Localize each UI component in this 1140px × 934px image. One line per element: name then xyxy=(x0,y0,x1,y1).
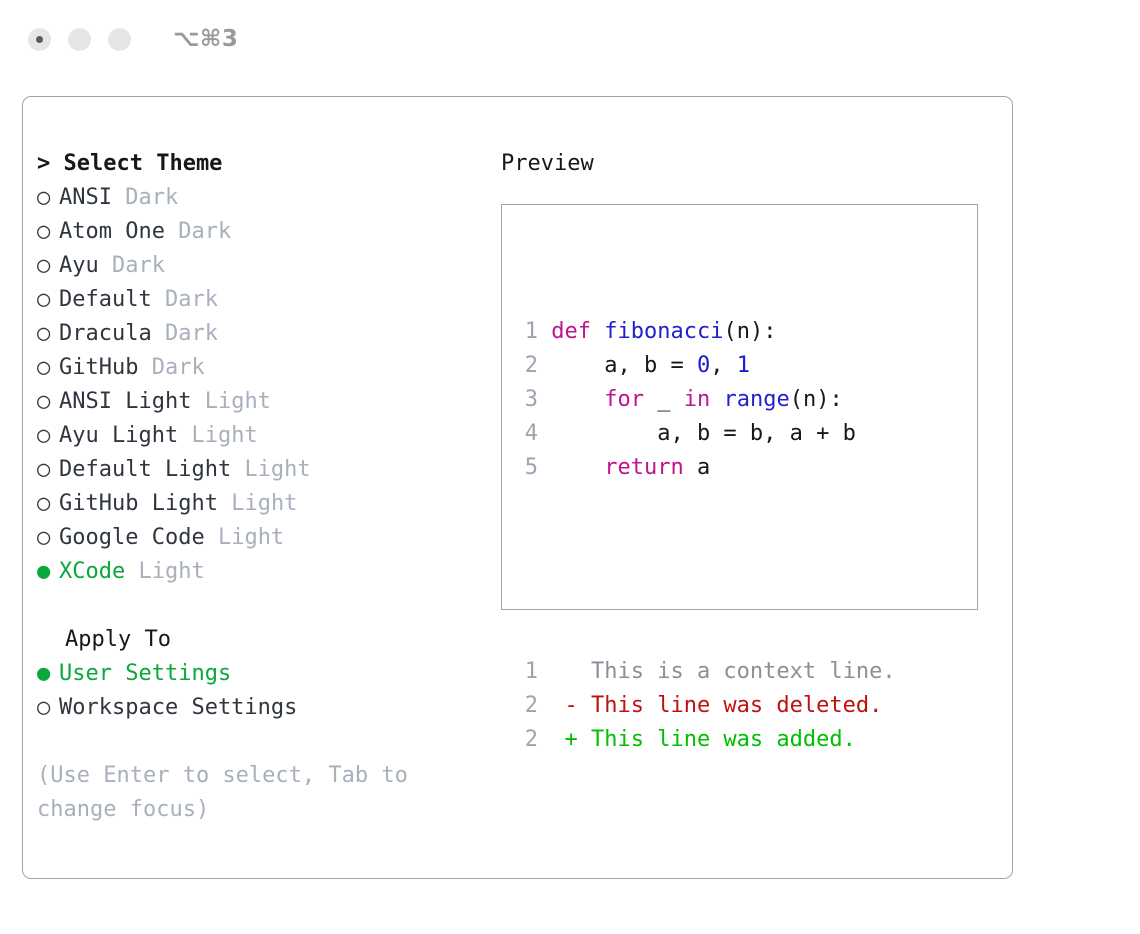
theme-item[interactable]: ○GitHub Dark xyxy=(37,351,477,385)
select-theme-header: > Select Theme xyxy=(37,147,477,181)
radio-unselected-icon[interactable]: ○ xyxy=(37,691,59,725)
theme-item-variant: Dark xyxy=(165,287,218,312)
theme-item-gap xyxy=(205,525,218,550)
theme-item-variant: Dark xyxy=(165,321,218,346)
preview-box: 1 def fibonacci(n):2 a, b = 0, 13 for _ … xyxy=(501,204,978,610)
code-token xyxy=(551,455,604,480)
code-sample: 1 def fibonacci(n):2 a, b = 0, 13 for _ … xyxy=(514,315,896,485)
theme-item[interactable]: ○ANSI Light Light xyxy=(37,385,477,419)
apply-to-option-label: Workspace Settings xyxy=(59,695,297,720)
apply-to-option[interactable]: ●User Settings xyxy=(37,657,477,691)
panel-columns: > Select Theme ○ANSI Dark○Atom One Dark○… xyxy=(23,97,1012,878)
apply-to-list[interactable]: ●User Settings○Workspace Settings xyxy=(37,657,477,725)
theme-item[interactable]: ○Google Code Light xyxy=(37,521,477,555)
radio-unselected-icon[interactable]: ○ xyxy=(37,453,59,487)
theme-item-name: ANSI Light xyxy=(59,389,191,414)
theme-item-variant: Dark xyxy=(125,185,178,210)
diff-text: This line was deleted. xyxy=(591,693,882,718)
radio-unselected-icon[interactable]: ○ xyxy=(37,181,59,215)
theme-item-gap xyxy=(218,491,231,516)
window-button-active-dot xyxy=(36,36,43,43)
preview-code: 1 def fibonacci(n):2 a, b = 0, 13 for _ … xyxy=(514,247,896,825)
theme-item-variant: Light xyxy=(218,525,284,550)
code-line: 5 return a xyxy=(514,451,896,485)
diff-line: 2 + This line was added. xyxy=(514,723,896,757)
window-button-minimize[interactable] xyxy=(68,28,91,51)
preview-title: Preview xyxy=(501,147,1001,181)
theme-item-name: Default xyxy=(59,287,152,312)
code-line-number: 4 xyxy=(514,417,538,451)
radio-unselected-icon[interactable]: ○ xyxy=(37,351,59,385)
theme-item-variant: Dark xyxy=(178,219,231,244)
code-token: 0 xyxy=(697,353,710,378)
list-spacer xyxy=(37,589,477,623)
radio-unselected-icon[interactable]: ○ xyxy=(37,317,59,351)
code-token xyxy=(551,387,604,412)
theme-item-gap xyxy=(231,457,244,482)
radio-unselected-icon[interactable]: ○ xyxy=(37,283,59,317)
theme-item-gap xyxy=(112,185,125,210)
window-titlebar: ⌥⌘3 xyxy=(0,0,1140,78)
theme-item-name: Atom One xyxy=(59,219,165,244)
radio-unselected-icon[interactable]: ○ xyxy=(37,487,59,521)
code-gutter-gap xyxy=(538,387,551,412)
code-token: , xyxy=(710,353,737,378)
code-token: a, b = xyxy=(551,353,697,378)
theme-item-variant: Light xyxy=(138,559,204,584)
code-gutter-gap xyxy=(538,455,551,480)
theme-item-name: Dracula xyxy=(59,321,152,346)
theme-item-name: Ayu Light xyxy=(59,423,178,448)
theme-item[interactable]: ○GitHub Light Light xyxy=(37,487,477,521)
code-gutter-gap xyxy=(538,319,551,344)
apply-to-option-label: User Settings xyxy=(59,661,231,686)
theme-item[interactable]: ○Atom One Dark xyxy=(37,215,477,249)
code-gutter-gap xyxy=(538,421,551,446)
code-token: in xyxy=(684,387,711,412)
theme-selection-column: > Select Theme ○ANSI Dark○Atom One Dark○… xyxy=(37,147,477,827)
code-line: 3 for _ in range(n): xyxy=(514,383,896,417)
radio-selected-icon[interactable]: ● xyxy=(37,555,59,589)
theme-item-name: Google Code xyxy=(59,525,205,550)
code-token: a xyxy=(684,455,711,480)
theme-item-name: Default Light xyxy=(59,457,231,482)
theme-item[interactable]: ○Ayu Dark xyxy=(37,249,477,283)
diff-text: This line was added. xyxy=(591,727,856,752)
code-line: 1 def fibonacci(n): xyxy=(514,315,896,349)
diff-text: This is a context line. xyxy=(591,659,896,684)
code-line-number: 3 xyxy=(514,383,538,417)
code-diff-separator xyxy=(514,553,896,587)
theme-item[interactable]: ○Dracula Dark xyxy=(37,317,477,351)
theme-item-variant: Light xyxy=(205,389,271,414)
apply-to-option[interactable]: ○Workspace Settings xyxy=(37,691,477,725)
code-line-number: 5 xyxy=(514,451,538,485)
code-token: a, b = b, a + b xyxy=(551,421,856,446)
theme-item-variant: Light xyxy=(191,423,257,448)
theme-item-gap xyxy=(152,287,165,312)
code-token: range xyxy=(723,387,789,412)
diff-marker xyxy=(538,659,591,684)
code-token xyxy=(710,387,723,412)
theme-picker-panel: > Select Theme ○ANSI Dark○Atom One Dark○… xyxy=(22,96,1013,879)
window-button-close[interactable] xyxy=(28,28,51,51)
code-token: def xyxy=(551,319,604,344)
code-gutter-gap xyxy=(538,353,551,378)
code-token: return xyxy=(604,455,683,480)
code-token: (n): xyxy=(723,319,776,344)
diff-line-number: 2 xyxy=(514,689,538,723)
theme-item-gap xyxy=(178,423,191,448)
radio-unselected-icon[interactable]: ○ xyxy=(37,521,59,555)
diff-marker: + xyxy=(538,727,591,752)
theme-item-variant: Light xyxy=(244,457,310,482)
hint-spacer xyxy=(37,725,477,759)
theme-item-variant: Dark xyxy=(112,253,165,278)
theme-item-gap xyxy=(152,321,165,346)
radio-selected-icon[interactable]: ● xyxy=(37,657,59,691)
radio-unselected-icon[interactable]: ○ xyxy=(37,215,59,249)
theme-item-name: ANSI xyxy=(59,185,112,210)
apply-to-title: Apply To xyxy=(37,623,477,657)
radio-unselected-icon[interactable]: ○ xyxy=(37,249,59,283)
window-button-maximize[interactable] xyxy=(108,28,131,51)
diff-line-number: 1 xyxy=(514,655,538,689)
code-token: for xyxy=(604,387,644,412)
theme-item[interactable]: ○Ayu Light Light xyxy=(37,419,477,453)
theme-list[interactable]: ○ANSI Dark○Atom One Dark○Ayu Dark○Defaul… xyxy=(37,181,477,589)
code-line: 4 a, b = b, a + b xyxy=(514,417,896,451)
code-line-number: 1 xyxy=(514,315,538,349)
theme-item[interactable]: ●XCode Light xyxy=(37,555,477,589)
code-line-number: 2 xyxy=(514,349,538,383)
window-controls xyxy=(28,28,131,51)
keyboard-hint: (Use Enter to select, Tab to change focu… xyxy=(37,759,457,827)
theme-item[interactable]: ○Default Light Light xyxy=(37,453,477,487)
theme-item-gap xyxy=(165,219,178,244)
theme-item-name: XCode xyxy=(59,559,125,584)
code-token: fibonacci xyxy=(604,319,723,344)
theme-item-name: Ayu xyxy=(59,253,99,278)
theme-item-gap xyxy=(138,355,151,380)
preview-column: Preview 1 def fibonacci(n):2 a, b = 0, 1… xyxy=(501,147,1001,610)
theme-item-gap xyxy=(191,389,204,414)
diff-line: 1 This is a context line. xyxy=(514,655,896,689)
theme-item-name: GitHub xyxy=(59,355,138,380)
theme-item-gap xyxy=(125,559,138,584)
code-line: 2 a, b = 0, 1 xyxy=(514,349,896,383)
theme-item[interactable]: ○Default Dark xyxy=(37,283,477,317)
theme-item[interactable]: ○ANSI Dark xyxy=(37,181,477,215)
keyboard-shortcut-label: ⌥⌘3 xyxy=(173,26,238,52)
diff-marker: - xyxy=(538,693,591,718)
diff-line-number: 2 xyxy=(514,723,538,757)
code-token: _ xyxy=(644,387,684,412)
radio-unselected-icon[interactable]: ○ xyxy=(37,419,59,453)
diff-line: 2 - This line was deleted. xyxy=(514,689,896,723)
radio-unselected-icon[interactable]: ○ xyxy=(37,385,59,419)
code-token: (n): xyxy=(790,387,843,412)
theme-item-variant: Dark xyxy=(152,355,205,380)
theme-item-name: GitHub Light xyxy=(59,491,218,516)
theme-item-variant: Light xyxy=(231,491,297,516)
diff-sample: 1 This is a context line.2 - This line w… xyxy=(514,655,896,757)
code-token: 1 xyxy=(737,353,750,378)
theme-item-gap xyxy=(99,253,112,278)
